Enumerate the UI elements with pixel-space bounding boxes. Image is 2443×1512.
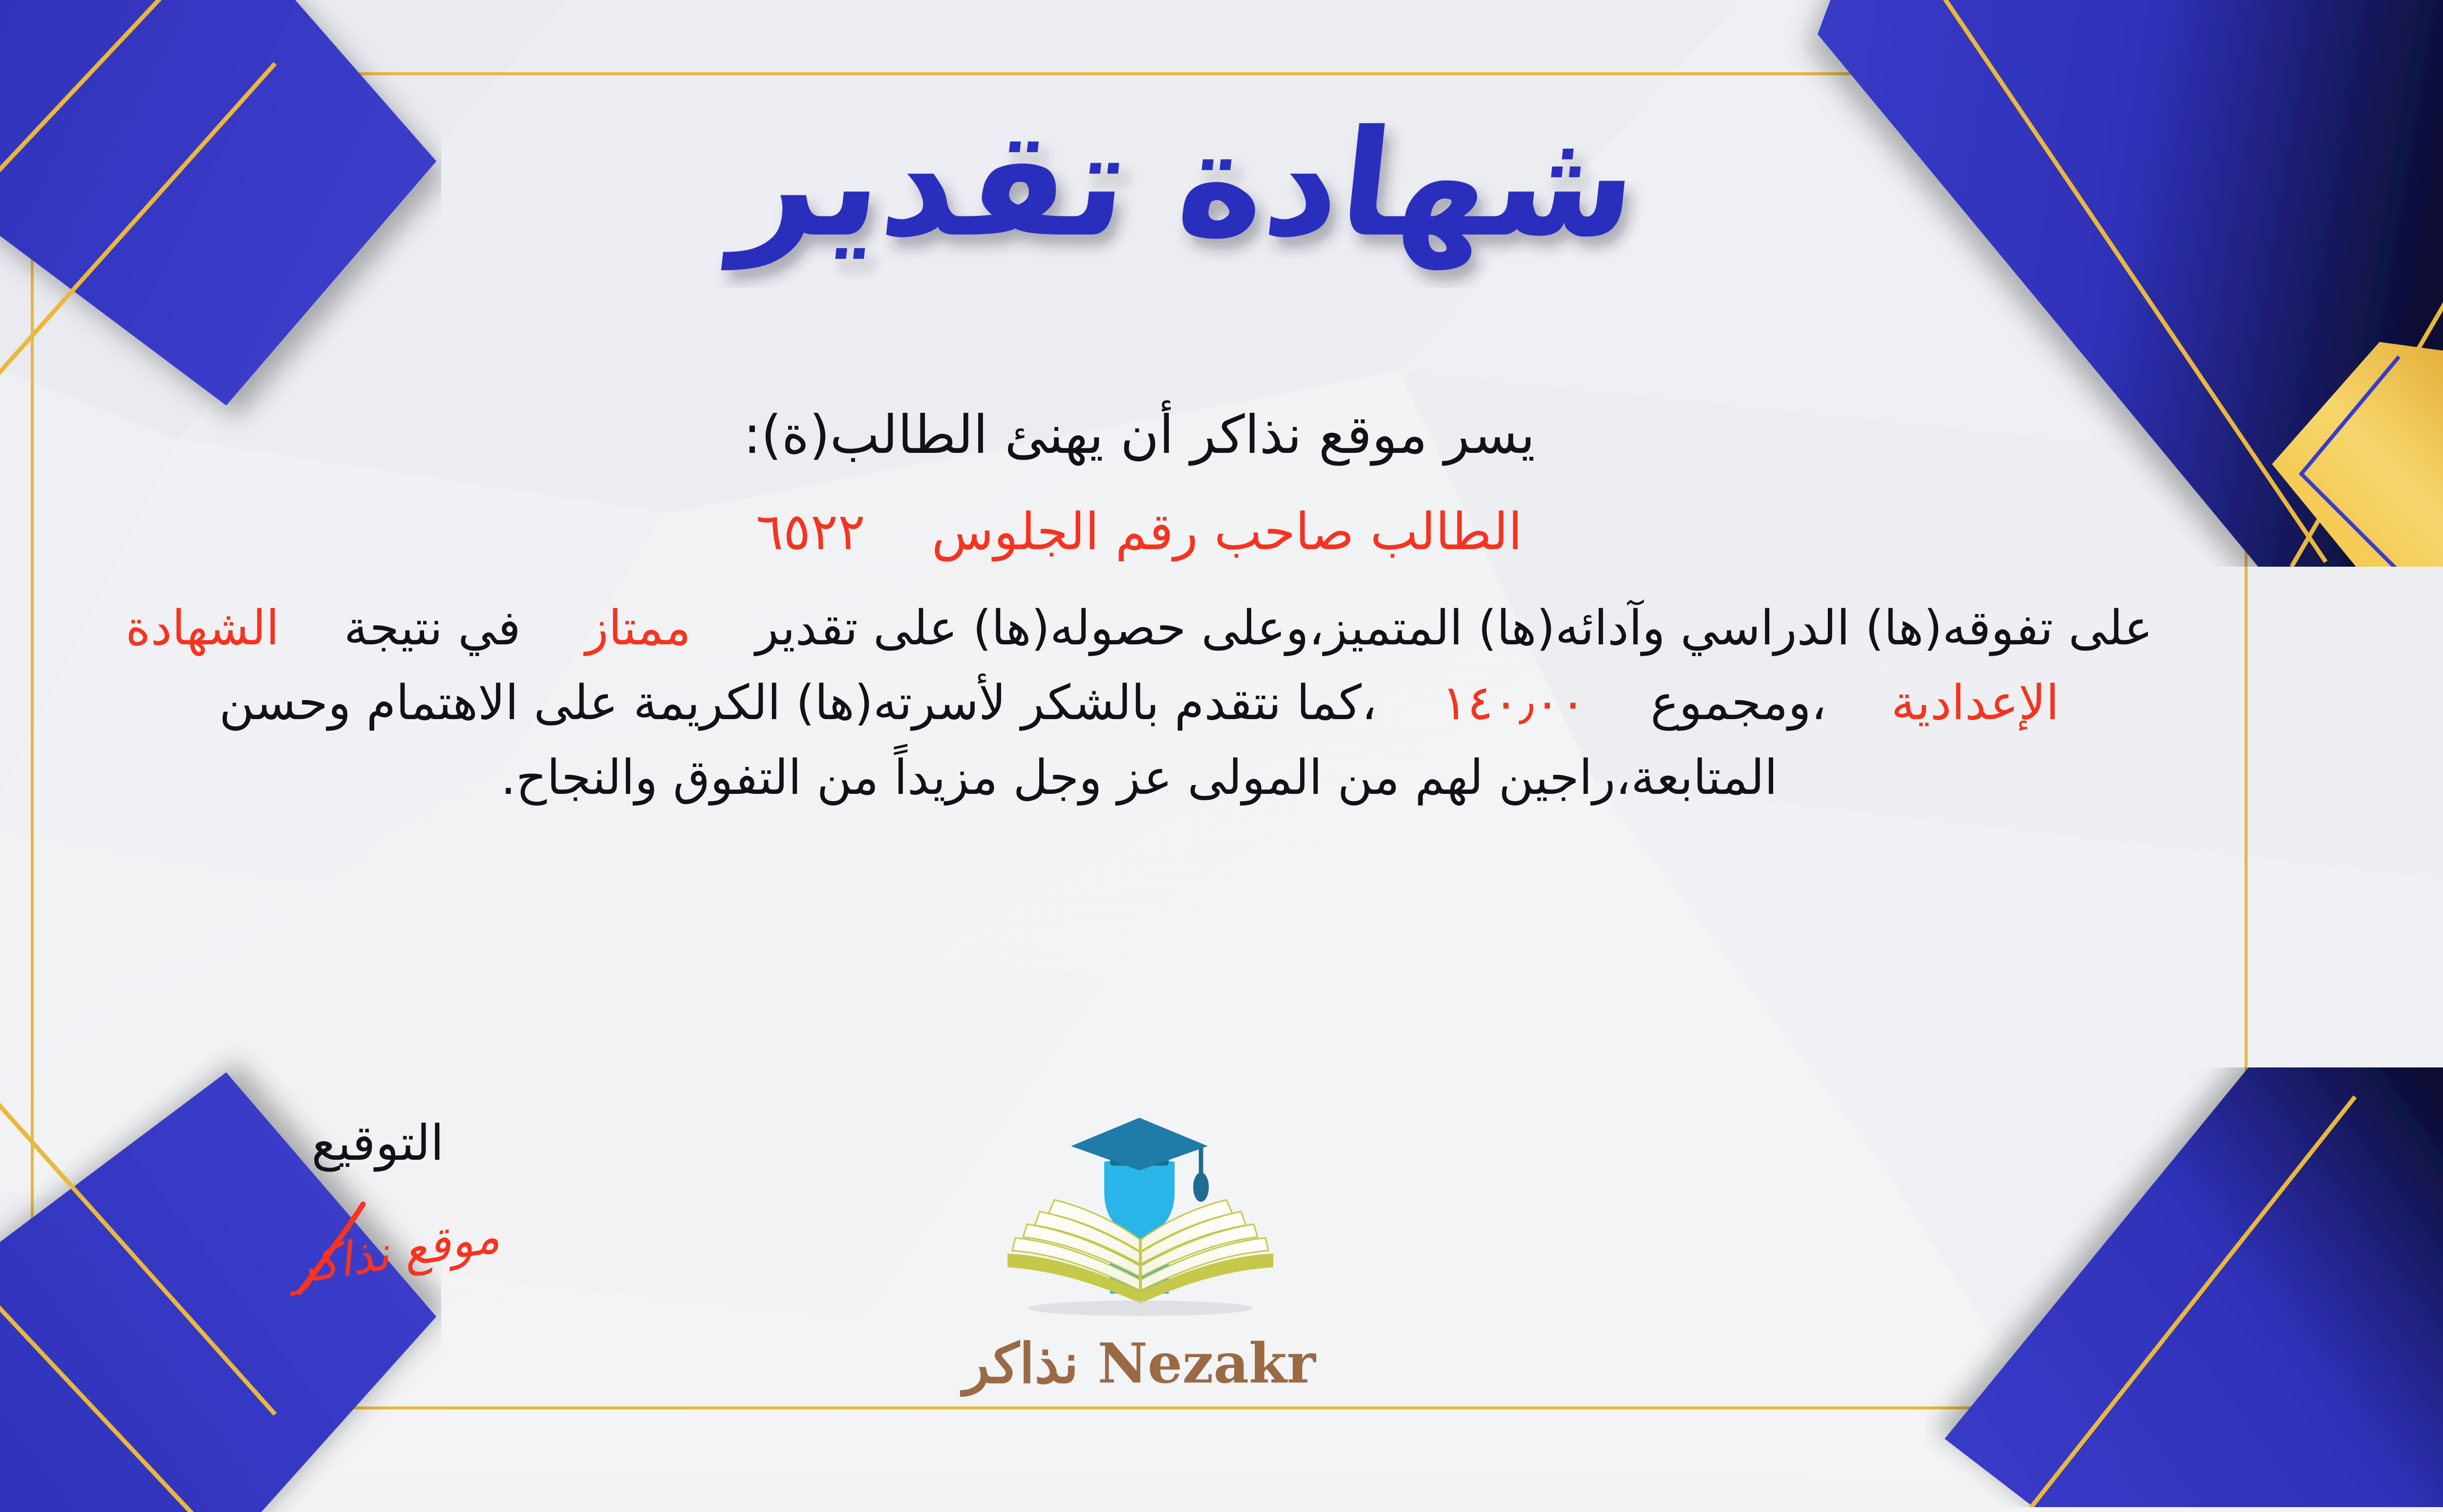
signature-mark: موقع نذاكر xyxy=(207,1187,549,1301)
certificate-title-block: شهادة تقدير xyxy=(0,73,2443,290)
seat-prefix-text: الطالب صاحب رقم الجلوس xyxy=(932,502,1522,561)
total-score-value: ١٤٠٫٠٠ xyxy=(1442,675,1586,731)
svg-text:شهادة تقدير: شهادة تقدير xyxy=(720,99,1645,271)
logo-wordmark-text: Nezakr نذاكر xyxy=(949,1323,1330,1406)
grade-value: ممتاز xyxy=(585,600,691,656)
certificate-body: يسر موقع نذاكر أن يهنئ الطالب(ة): الطالب… xyxy=(41,396,2238,815)
seat-number-value: ٦٥٢٢ xyxy=(756,502,865,561)
page-title: شهادة تقدير xyxy=(578,73,1701,288)
graduate-book-logo-icon xyxy=(949,1109,1330,1324)
intro-line: يسر موقع نذاكر أن يهنئ الطالب(ة): xyxy=(41,396,2238,475)
signature-block: التوقيع موقع نذاكر xyxy=(207,1119,549,1301)
paragraph-part-1: على تفوقه(ها) الدراسي وآدائه(ها) المتميز… xyxy=(755,600,2153,656)
site-logo: Nezakr نذاكر xyxy=(929,1109,1350,1408)
svg-text:Nezakr نذاكر: Nezakr نذاكر xyxy=(960,1332,1317,1397)
seat-number-line: الطالب صاحب رقم الجلوس ٦٥٢٢ xyxy=(41,493,2238,570)
paragraph-part-3: ،ومجموع xyxy=(1650,675,1826,731)
svg-text:موقع نذاكر: موقع نذاكر xyxy=(281,1208,503,1297)
signature-label: التوقيع xyxy=(207,1119,549,1168)
logo-wordmark: Nezakr نذاكر xyxy=(929,1323,1350,1408)
achievement-paragraph: على تفوقه(ها) الدراسي وآدائه(ها) المتميز… xyxy=(113,591,2165,815)
paragraph-part-2: في نتيجة xyxy=(344,600,521,656)
handwritten-signature-icon: موقع نذاكر xyxy=(251,1187,505,1299)
